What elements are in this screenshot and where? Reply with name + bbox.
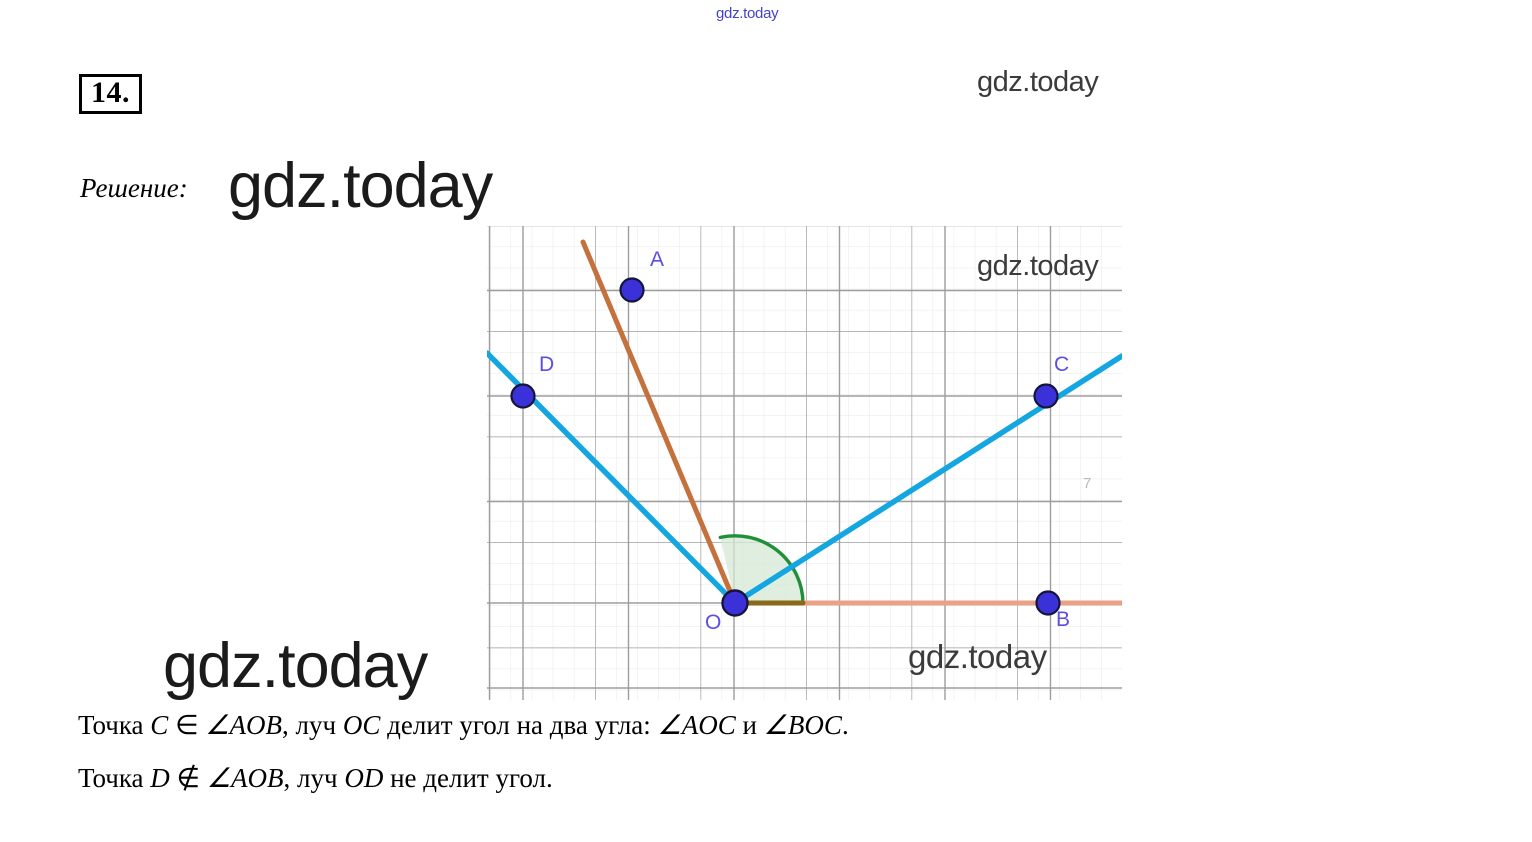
stmt1-part4: делит угол на два угла: [380,710,657,740]
point-label-B: B [1056,608,1070,631]
watermark-big-top: gdz.today [228,150,492,222]
stmt1-var4: ∠AOC [658,710,736,740]
stmt1-part6: . [842,710,849,740]
point-label-O: O [705,611,721,634]
statement-line-1: Точка C ∈ ∠AOB, луч OC делит угол на два… [78,710,849,740]
watermark-in-figure: gdz.today [977,250,1098,283]
angle-diagram: A B C D O 7 [487,226,1122,700]
watermark-top-small: gdz.today [716,5,778,22]
stmt1-var1: C [150,710,168,740]
watermark-below-figure: gdz.today [908,638,1047,676]
stmt2-part2: ∉ [170,763,207,793]
stray-artifact: 7 [1083,475,1091,492]
stmt2-part3: , луч [284,763,345,793]
statement-line-2: Точка D ∉ ∠AOB, луч OD не делит угол. [78,763,553,793]
stmt1-var3: OC [343,710,381,740]
solution-label: Решение: [80,172,188,204]
point-label-A: A [650,248,664,271]
watermark-big-bottom: gdz.today [163,630,427,702]
stmt1-part1: Точка [78,710,150,740]
stmt2-var1: D [150,763,170,793]
stmt2-var3: OD [344,763,383,793]
point-D [512,385,535,408]
stmt2-part4: не делит угол. [383,763,552,793]
point-label-D: D [539,353,554,376]
stmt2-part1: Точка [78,763,150,793]
stmt1-part5: и [736,710,764,740]
stmt2-var2: ∠AOB [207,763,284,793]
stmt1-part3: , луч [282,710,343,740]
point-O [723,591,748,616]
grid-background [487,226,1122,700]
stmt1-var5: ∠BOC [764,710,842,740]
point-label-C: C [1054,353,1069,376]
exercise-number: 14. [79,74,142,114]
point-C [1035,385,1058,408]
stmt1-part2: ∈ [168,710,205,740]
point-A [621,279,644,302]
watermark-top-right: gdz.today [977,66,1098,99]
stmt1-var2: ∠AOB [205,710,282,740]
